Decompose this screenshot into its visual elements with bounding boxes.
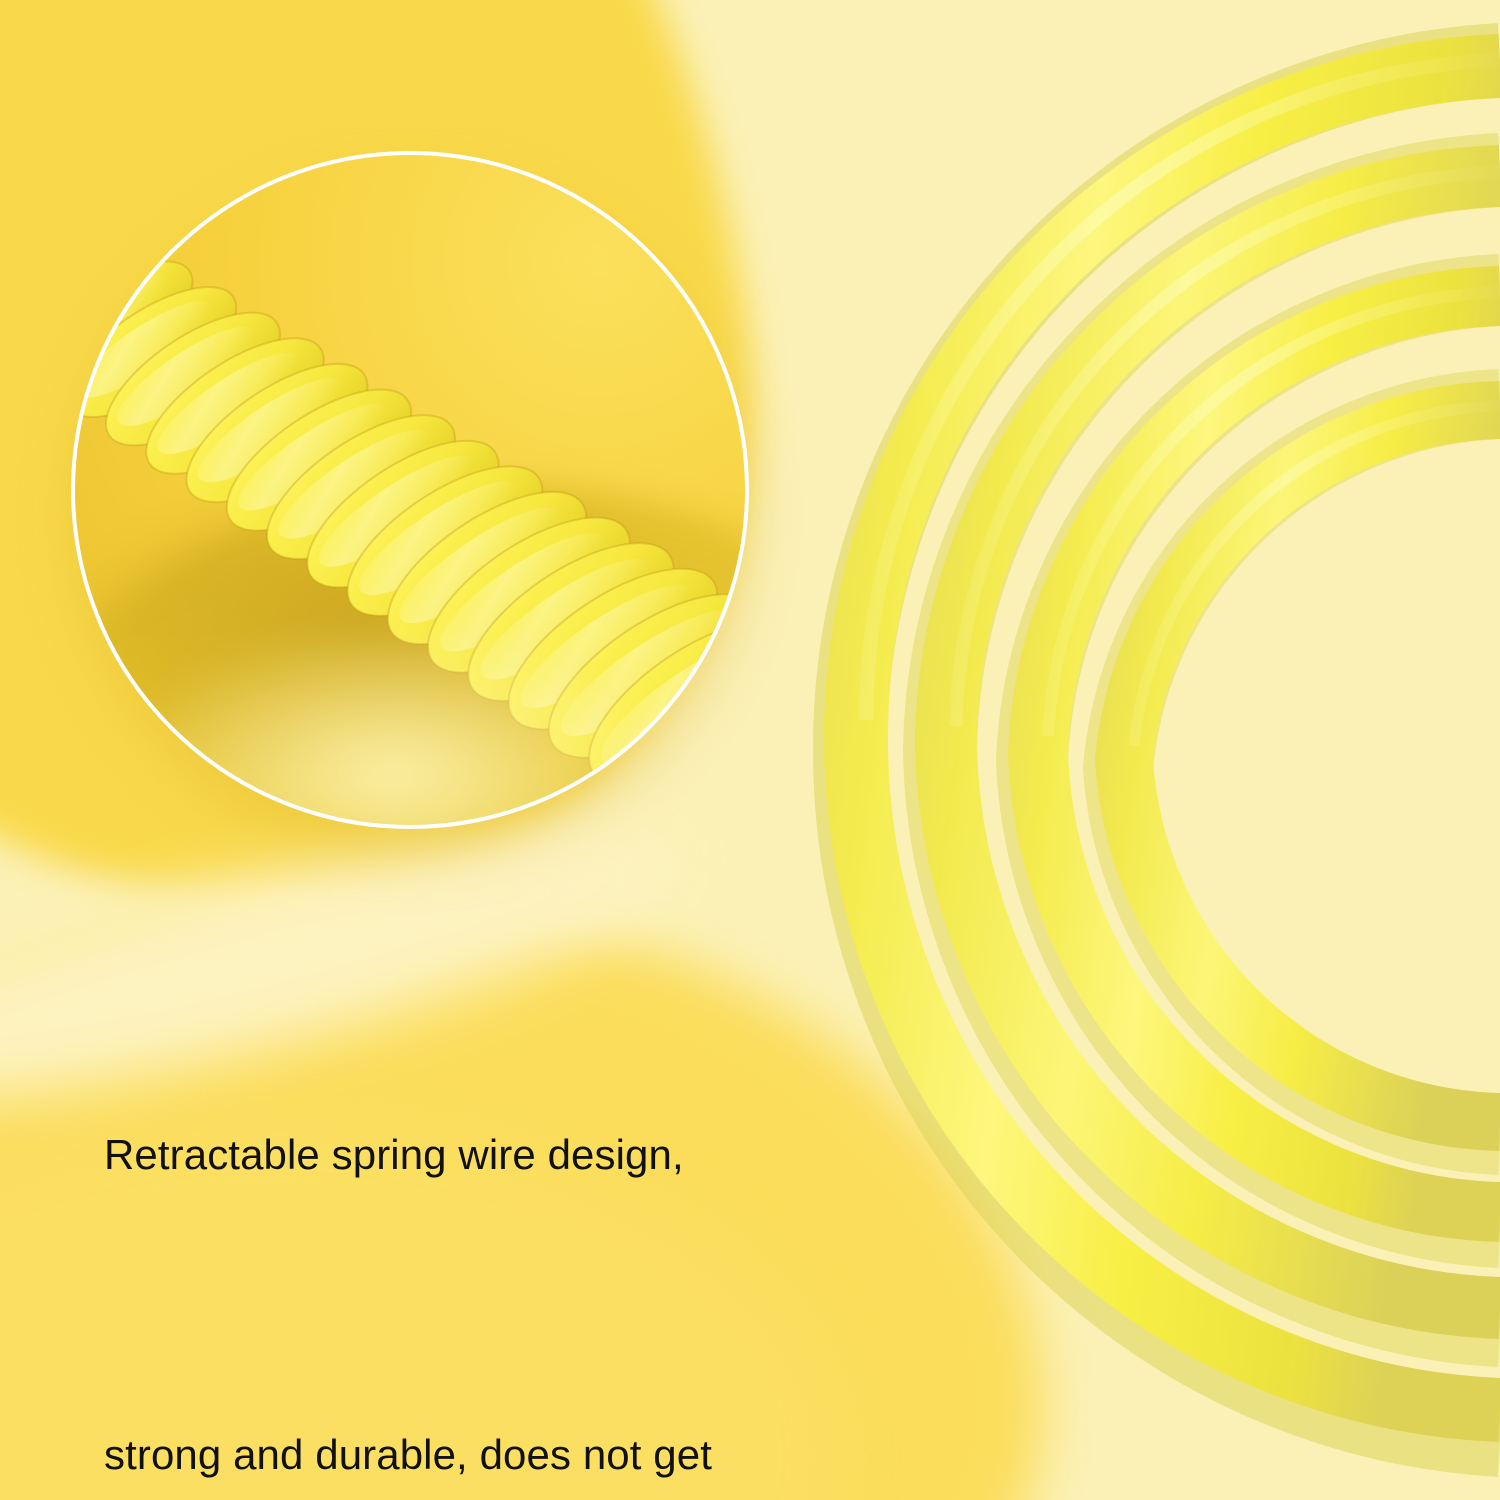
- magnifier-inset: [73, 153, 747, 827]
- product-feature-image: Retractable spring wire design, strong a…: [0, 0, 1500, 1500]
- caption-line-1: Retractable spring wire design,: [104, 1105, 864, 1205]
- feature-caption: Retractable spring wire design, strong a…: [104, 905, 864, 1500]
- inset-floor-glow: [113, 623, 673, 827]
- caption-line-2: strong and durable, does not get: [104, 1405, 864, 1500]
